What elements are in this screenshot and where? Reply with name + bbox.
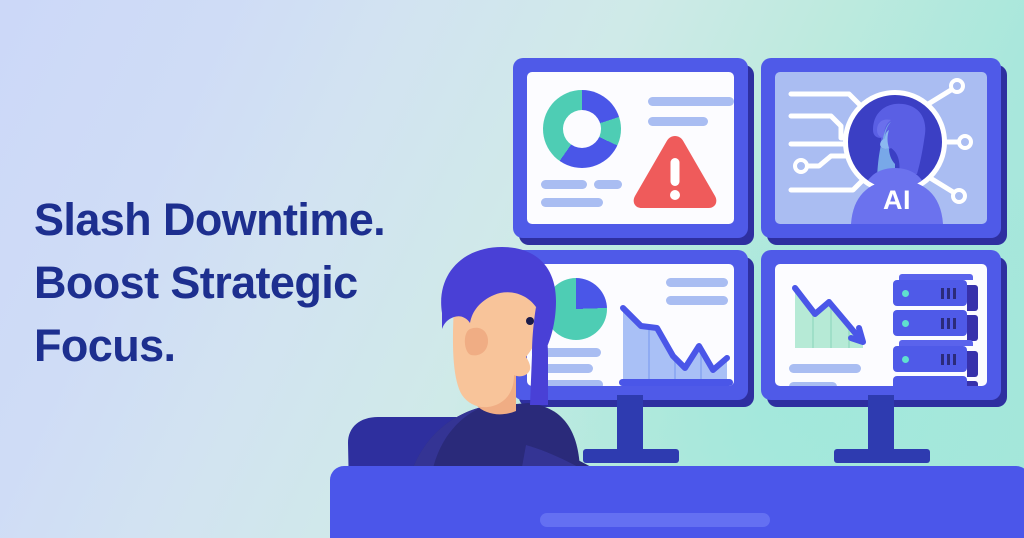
donut-chart (543, 90, 621, 168)
server-top (899, 340, 973, 346)
headline-line-2: Boost Strategic (34, 251, 454, 314)
ai-badge-label: AI (883, 185, 911, 216)
server-side (967, 315, 978, 341)
page-title: Slash Downtime. Boost Strategic Focus. (34, 188, 454, 377)
desk-surface (330, 466, 1024, 538)
server-side (967, 351, 978, 377)
screen-alert-dashboard (527, 72, 734, 224)
monitor-top-left[interactable] (513, 58, 748, 238)
text-line (648, 97, 734, 106)
text-line (648, 117, 708, 126)
screen-infrastructure-dashboard (775, 264, 987, 386)
text-line (789, 364, 861, 373)
text-line (789, 382, 837, 386)
server-led (902, 356, 909, 363)
server-unit (893, 280, 967, 306)
text-line (594, 180, 622, 189)
monitor-bottom-right[interactable] (761, 250, 1001, 400)
headline-line-3: Focus. (34, 314, 454, 377)
server-vents (941, 318, 956, 329)
monitor-top-right[interactable]: AI (761, 58, 1001, 238)
server-side (967, 381, 978, 386)
server-led (902, 320, 909, 327)
hero-banner: Slash Downtime. Boost Strategic Focus. (0, 0, 1024, 538)
server-led (902, 290, 909, 297)
declining-arrow-chart (787, 278, 883, 356)
warning-triangle-icon (629, 130, 721, 210)
server-side (967, 285, 978, 311)
server-top (899, 274, 973, 280)
headline-line-1: Slash Downtime. (34, 188, 454, 251)
donut-hole (563, 110, 601, 148)
screen-ai-panel: AI (775, 72, 987, 224)
text-line (541, 198, 603, 207)
server-unit (893, 346, 967, 372)
text-line (541, 180, 587, 189)
server-vents (941, 354, 956, 365)
monitor-stand-neck-right (868, 395, 894, 455)
monitor-stand-base-right (834, 449, 930, 463)
keyboard[interactable] (540, 513, 770, 527)
server-unit (893, 310, 967, 336)
server-unit (893, 376, 967, 386)
server-vents (941, 288, 956, 299)
